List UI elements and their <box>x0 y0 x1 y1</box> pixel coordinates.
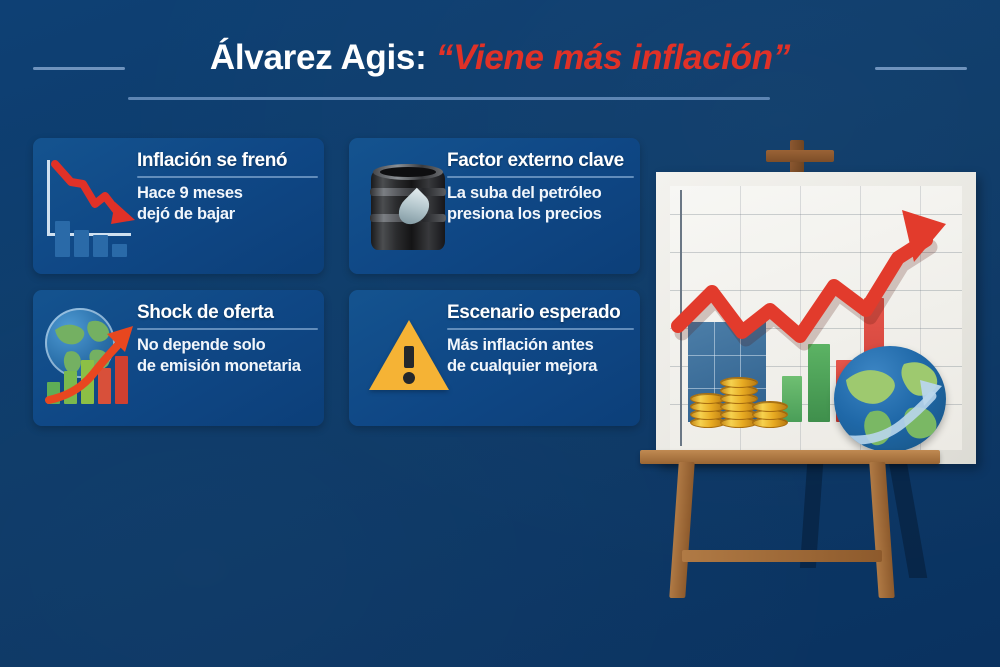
easel-leg-right <box>869 462 895 598</box>
card-inflacion-se-freno[interactable]: Inflación se frenó Hace 9 meses dejó de … <box>33 138 324 274</box>
infographic-canvas: Álvarez Agis: “Viene más inflación” Infl… <box>0 0 1000 667</box>
gold-coin-stacks <box>690 366 798 428</box>
easel-top-clip <box>766 150 834 162</box>
easel-cross-brace <box>682 550 882 562</box>
easel-leg-shadow <box>887 450 928 578</box>
card-heading: Factor externo clave <box>447 150 634 172</box>
card-text: Inflación se frenó Hace 9 meses dejó de … <box>137 150 318 226</box>
card-separator <box>447 328 634 330</box>
card-escenario-esperado[interactable]: Escenario esperado Más inflación antes d… <box>349 290 640 426</box>
card-body: La suba del petróleo presiona los precio… <box>447 183 634 226</box>
card-text: Shock de oferta No depende solo de emisi… <box>137 302 318 378</box>
globe-rising-bars-icon <box>41 304 149 412</box>
card-heading: Escenario esperado <box>447 302 634 324</box>
header-rule-underline <box>128 97 770 100</box>
page-title: Álvarez Agis: “Viene más inflación” <box>0 38 1000 78</box>
card-body: No depende solo de emisión monetaria <box>137 335 318 378</box>
falling-bar-chart-icon <box>41 152 149 260</box>
globe-with-arrow-icon <box>834 346 946 452</box>
card-text: Factor externo clave La suba del petróle… <box>447 150 634 226</box>
card-shock-de-oferta[interactable]: Shock de oferta No depende solo de emisi… <box>33 290 324 426</box>
card-body: Más inflación antes de cualquier mejora <box>447 335 634 378</box>
card-separator <box>447 176 634 178</box>
page-title-quote: “Viene más inflación” <box>436 38 790 77</box>
card-text: Escenario esperado Más inflación antes d… <box>447 302 634 378</box>
card-separator <box>137 176 318 178</box>
easel-illustration <box>628 150 1000 570</box>
card-separator <box>137 328 318 330</box>
card-body: Hace 9 meses dejó de bajar <box>137 183 318 226</box>
card-heading: Inflación se frenó <box>137 150 318 172</box>
easel-leg-left <box>669 462 695 598</box>
key-points-grid: Inflación se frenó Hace 9 meses dejó de … <box>33 138 640 426</box>
header: Álvarez Agis: “Viene más inflación” <box>0 38 1000 110</box>
page-title-name: Álvarez Agis: <box>210 38 427 77</box>
card-heading: Shock de oferta <box>137 302 318 324</box>
card-factor-externo-clave[interactable]: Factor externo clave La suba del petróle… <box>349 138 640 274</box>
coin-stack <box>752 400 788 428</box>
